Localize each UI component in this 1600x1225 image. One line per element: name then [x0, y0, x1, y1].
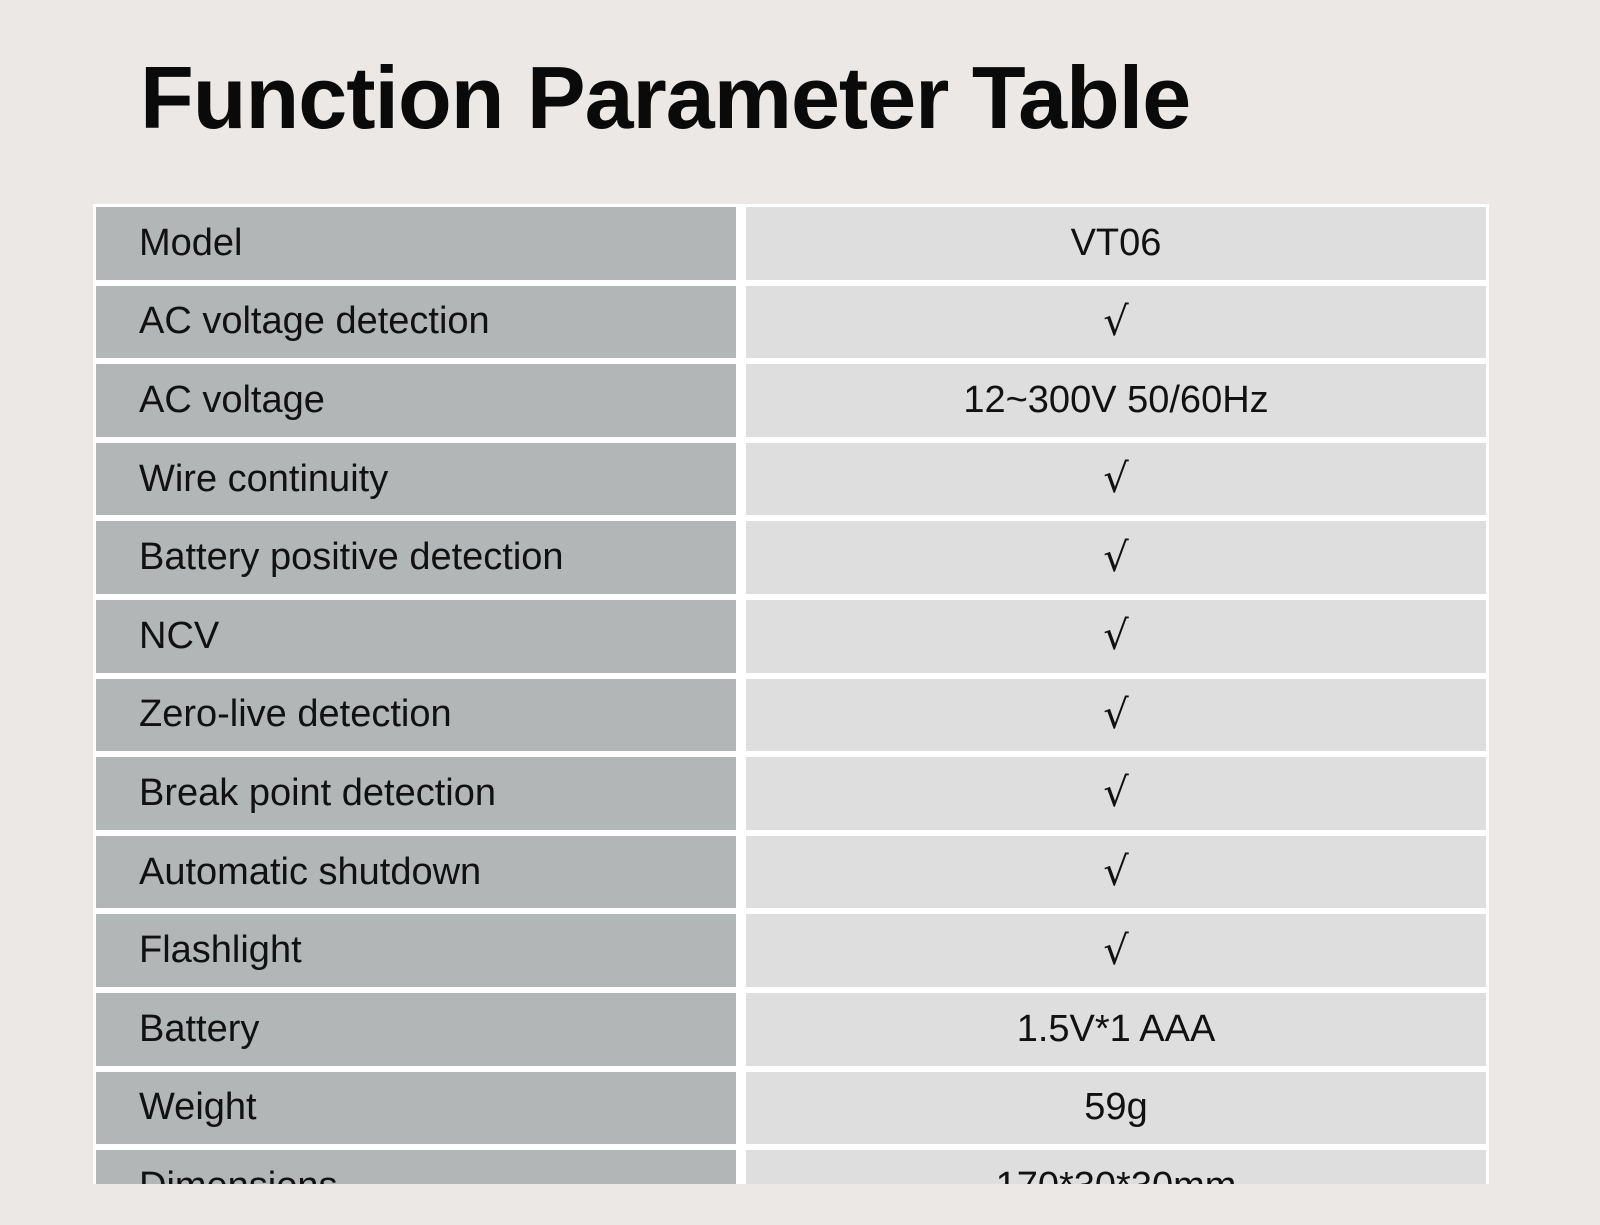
column-divider [736, 836, 746, 909]
table-row: ModelVT06 [96, 207, 1486, 280]
page-title: Function Parameter Table [140, 52, 1190, 144]
column-divider [736, 207, 746, 280]
table-row: Battery positive detection√ [96, 521, 1486, 594]
table-row: NCV√ [96, 600, 1486, 673]
column-divider [736, 364, 746, 437]
parameter-name-cell: Break point detection [96, 757, 736, 830]
parameter-name-cell: Wire continuity [96, 443, 736, 516]
column-divider [736, 993, 746, 1066]
parameter-name-cell: Dimensions [96, 1150, 736, 1184]
column-divider [736, 679, 746, 752]
parameter-value-cell: VT06 [746, 207, 1486, 280]
column-divider [736, 443, 746, 516]
parameter-name-cell: Automatic shutdown [96, 836, 736, 909]
parameter-value-cell-check-icon: √ [746, 521, 1486, 594]
column-divider [736, 286, 746, 359]
parameter-name-cell: AC voltage [96, 364, 736, 437]
parameter-value-cell: 59g [746, 1072, 1486, 1145]
table-row: Automatic shutdown√ [96, 836, 1486, 909]
table-row: Battery1.5V*1 AAA [96, 993, 1486, 1066]
function-parameter-table: ModelVT06AC voltage detection√AC voltage… [93, 204, 1489, 1184]
table-row: Wire continuity√ [96, 443, 1486, 516]
table-row: AC voltage detection√ [96, 286, 1486, 359]
column-divider [736, 1150, 746, 1184]
page-root: Function Parameter Table ModelVT06AC vol… [0, 0, 1600, 1225]
table-row: Weight59g [96, 1072, 1486, 1145]
parameter-name-cell: AC voltage detection [96, 286, 736, 359]
parameter-name-cell: Battery [96, 993, 736, 1066]
table-row: Dimensions170*30*30mm [96, 1150, 1486, 1184]
parameter-value-cell: 1.5V*1 AAA [746, 993, 1486, 1066]
parameter-value-cell-check-icon: √ [746, 757, 1486, 830]
parameter-name-cell: Battery positive detection [96, 521, 736, 594]
parameter-name-cell: Flashlight [96, 914, 736, 987]
table-row: Flashlight√ [96, 914, 1486, 987]
parameter-value-cell: 12~300V 50/60Hz [746, 364, 1486, 437]
column-divider [736, 1072, 746, 1145]
parameter-name-cell: Model [96, 207, 736, 280]
column-divider [736, 914, 746, 987]
table-row: Break point detection√ [96, 757, 1486, 830]
column-divider [736, 600, 746, 673]
parameter-value-cell: 170*30*30mm [746, 1150, 1486, 1184]
column-divider [736, 757, 746, 830]
column-divider [736, 521, 746, 594]
parameter-value-cell-check-icon: √ [746, 600, 1486, 673]
parameter-value-cell-check-icon: √ [746, 836, 1486, 909]
parameter-name-cell: Weight [96, 1072, 736, 1145]
table-row: AC voltage12~300V 50/60Hz [96, 364, 1486, 437]
parameter-value-cell-check-icon: √ [746, 443, 1486, 516]
parameter-value-cell-check-icon: √ [746, 286, 1486, 359]
parameter-name-cell: NCV [96, 600, 736, 673]
parameter-value-cell-check-icon: √ [746, 914, 1486, 987]
parameter-value-cell-check-icon: √ [746, 679, 1486, 752]
table-row: Zero-live detection√ [96, 679, 1486, 752]
parameter-name-cell: Zero-live detection [96, 679, 736, 752]
